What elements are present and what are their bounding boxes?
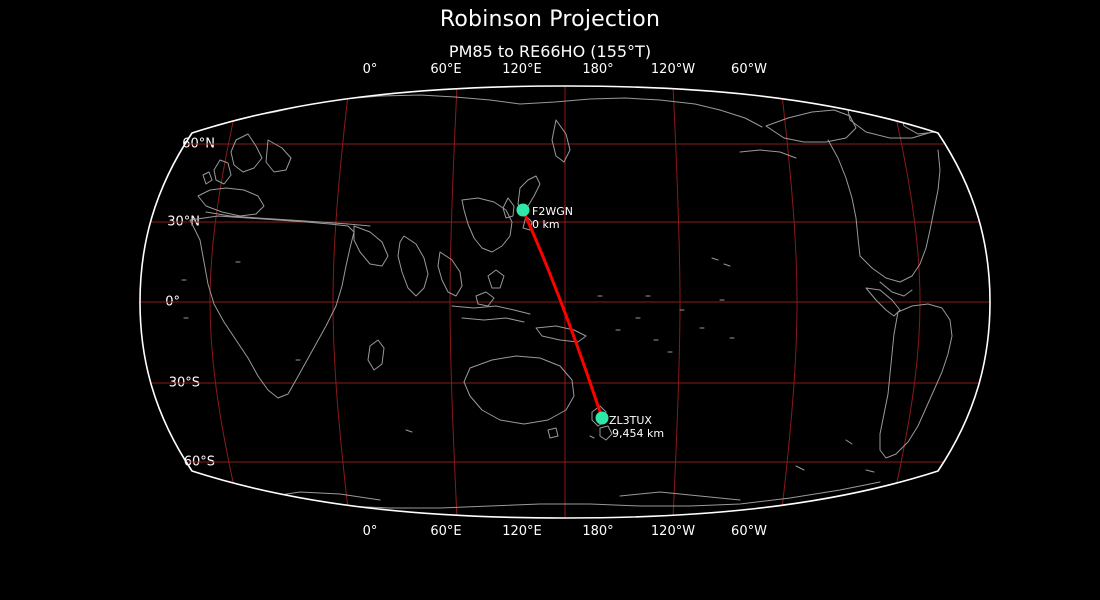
station-label-end: ZL3TUX 9,454 km [609, 414, 664, 440]
station-distance-end: 9,454 km [612, 427, 664, 440]
station-label-start: F2WGN 0 km [532, 205, 573, 231]
station-marker-start[interactable] [517, 204, 530, 217]
coastlines [182, 92, 952, 508]
station-marker-end[interactable] [596, 412, 609, 425]
station-callsign-end: ZL3TUX [609, 414, 664, 427]
station-distance-start: 0 km [532, 218, 573, 231]
great-circle-path [523, 210, 602, 418]
map-canvas [0, 0, 1100, 600]
robinson-projection-figure: Robinson Projection PM85 to RE66HO (155°… [0, 0, 1100, 600]
station-callsign-start: F2WGN [532, 205, 573, 218]
